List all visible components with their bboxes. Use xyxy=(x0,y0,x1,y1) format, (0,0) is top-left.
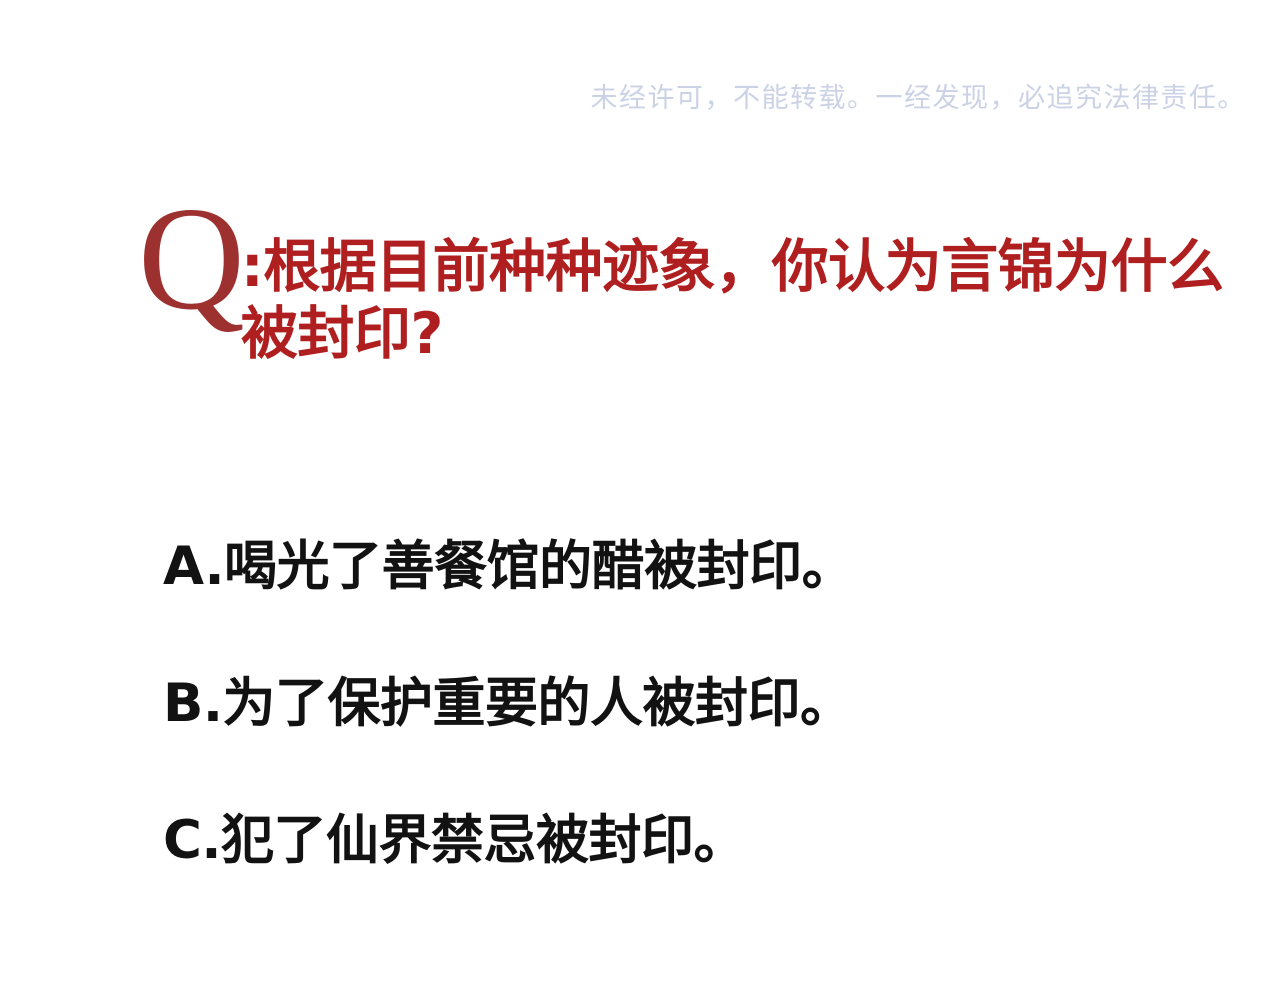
question-text: :根据目前种种迹象，你认为言锦为什么被封印? xyxy=(241,234,1228,369)
question-body: :根据目前种种迹象，你认为言锦为什么被封印? xyxy=(241,216,1228,369)
option-b[interactable]: B.为了保护重要的人被封印。 xyxy=(163,677,1223,730)
question-separator-colon: : xyxy=(241,234,263,300)
options-list: A.喝光了善餐馆的醋被封印。 B.为了保护重要的人被封印。 C.犯了仙界禁忌被封… xyxy=(163,540,1223,867)
option-a[interactable]: A.喝光了善餐馆的醋被封印。 xyxy=(163,540,1223,593)
question-text-content: 根据目前种种迹象，你认为言锦为什么被封印? xyxy=(241,234,1224,367)
question-block: Q :根据目前种种迹象，你认为言锦为什么被封印? xyxy=(138,216,1228,369)
option-c[interactable]: C.犯了仙界禁忌被封印。 xyxy=(163,814,1223,867)
copyright-watermark: 未经许可，不能转载。一经发现，必追究法律责任。 xyxy=(0,76,1246,115)
quiz-slide: 未经许可，不能转载。一经发现，必追究法律责任。 Q :根据目前种种迹象，你认为言… xyxy=(0,0,1280,1000)
question-marker-q: Q xyxy=(138,202,245,317)
